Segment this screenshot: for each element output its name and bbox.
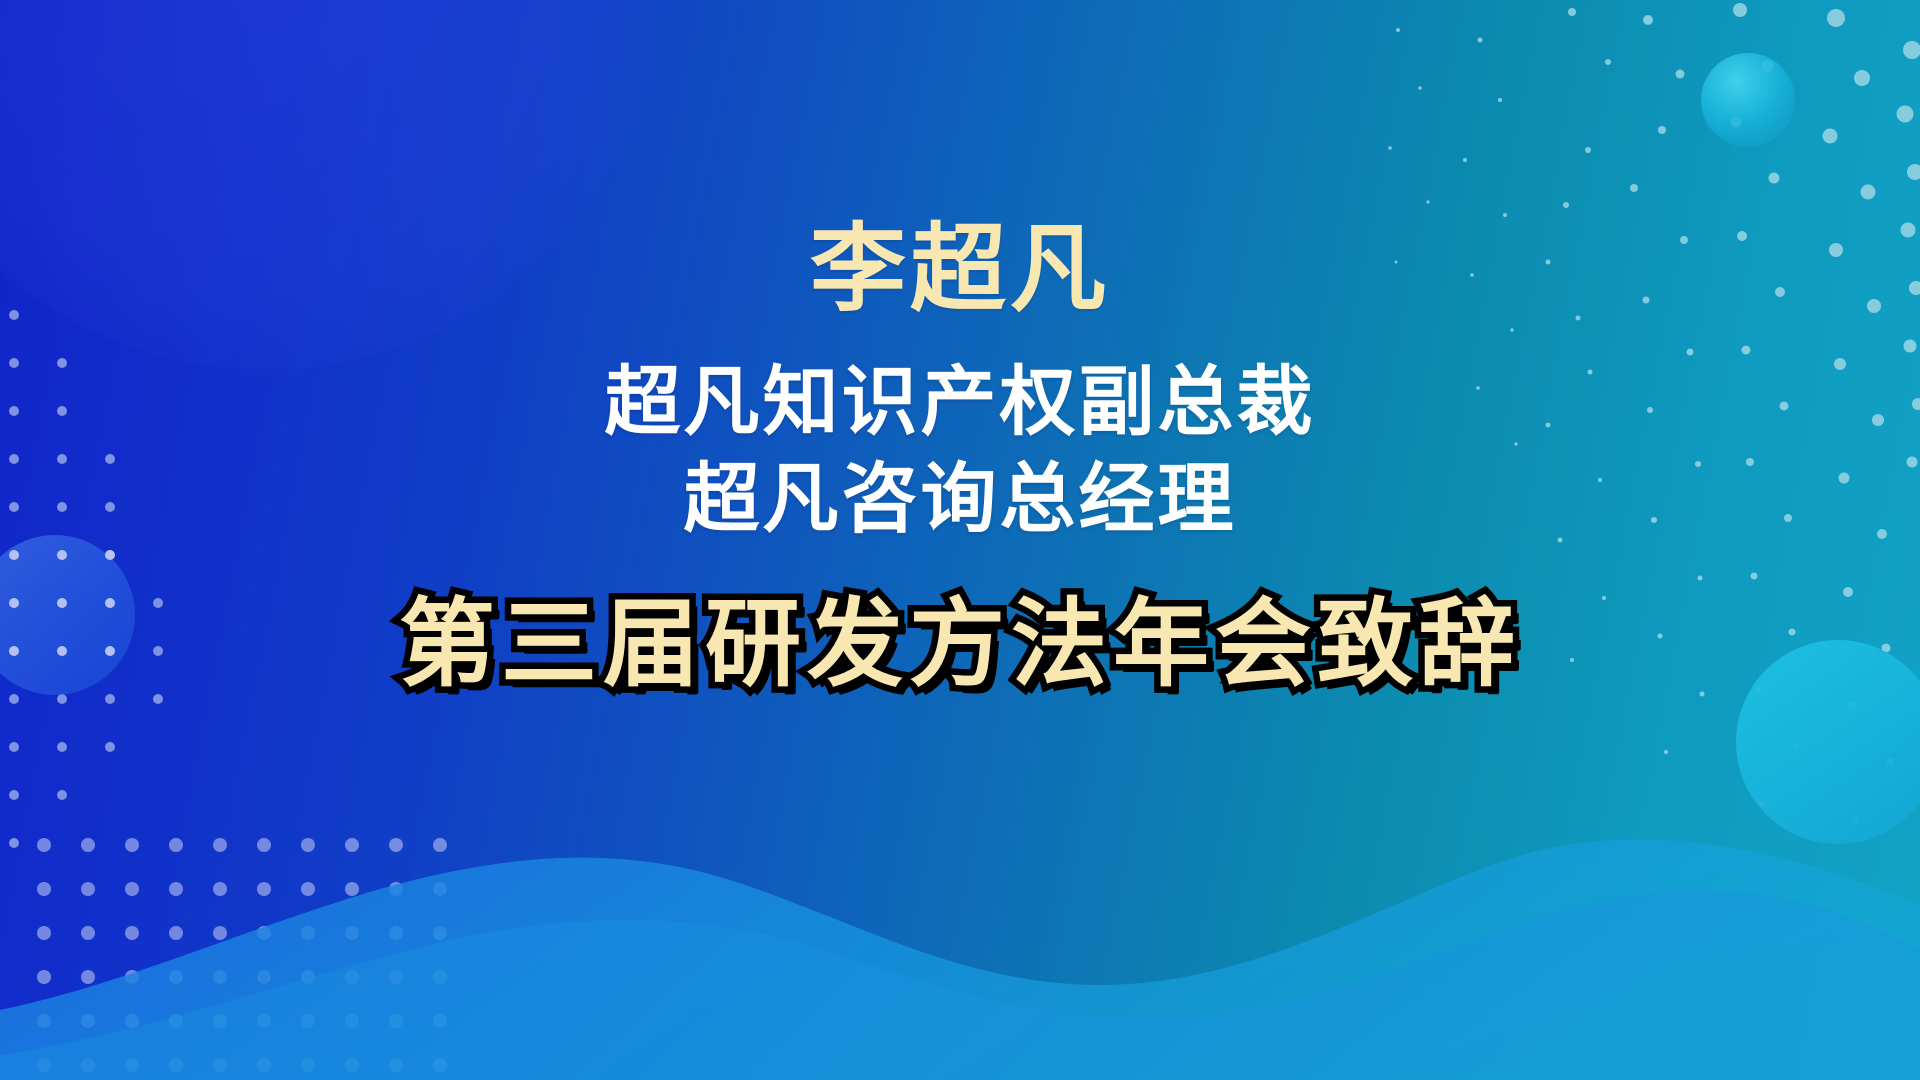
speaker-name: 李超凡 bbox=[810, 222, 1110, 318]
speaker-titles: 超凡知识产权副总裁 超凡咨询总经理 bbox=[605, 354, 1316, 549]
speaker-title-line-1: 超凡知识产权副总裁 bbox=[605, 354, 1316, 451]
speaker-title-line-2: 超凡咨询总经理 bbox=[684, 451, 1237, 548]
main-title: 第三届研发方法年会致辞 bbox=[399, 597, 1521, 693]
presentation-banner: 李超凡 超凡知识产权副总裁 超凡咨询总经理 第三届研发方法年会致辞 bbox=[0, 0, 1920, 1080]
banner-content: 李超凡 超凡知识产权副总裁 超凡咨询总经理 第三届研发方法年会致辞 bbox=[0, 0, 1920, 1080]
